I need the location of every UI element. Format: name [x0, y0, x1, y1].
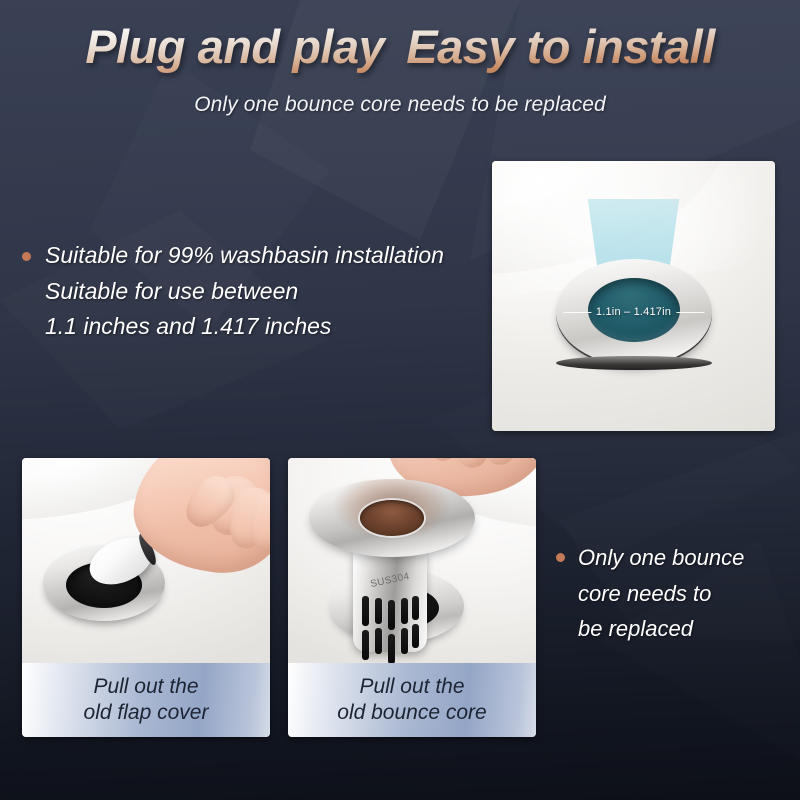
drain-size-photo: 1.1in – 1.417in	[492, 161, 775, 431]
strainer-slot	[362, 630, 369, 660]
caption-line: Pull out the	[359, 675, 464, 700]
list-item: Only one bounce core needs to be replace…	[556, 540, 792, 647]
strainer-slot	[388, 600, 395, 630]
strainer-slot	[375, 598, 382, 624]
strainer-slot	[388, 634, 395, 663]
feature-line: Suitable for 99% washbasin installation	[45, 238, 492, 274]
bounce-core-photo: SUS304 Pull out the old bounce core	[288, 458, 536, 737]
strainer-slot	[412, 624, 419, 648]
photo-area: 1.1in – 1.417in	[492, 161, 775, 431]
core-flange	[309, 479, 475, 557]
core-opening	[360, 500, 424, 536]
caption-line: old flap cover	[84, 701, 209, 726]
caption-line: old bounce core	[337, 701, 486, 726]
title-part-1: Plug and play	[85, 20, 384, 73]
bullet-dot-icon	[22, 252, 31, 261]
strainer-slot	[401, 598, 408, 624]
photo-caption: Pull out the old flap cover	[22, 663, 270, 737]
feature-line: be replaced	[578, 611, 792, 647]
page-subtitle: Only one bounce core needs to be replace…	[0, 93, 800, 117]
list-item-text: Suitable for 99% washbasin installation …	[45, 238, 492, 345]
strainer-slot	[401, 628, 408, 654]
dimension-line-right	[676, 312, 704, 313]
bounce-core-basket: SUS304	[353, 548, 427, 652]
finger	[448, 458, 493, 471]
page-title: Plug and playEasy to install	[0, 19, 800, 74]
measurement-label: 1.1in – 1.417in	[596, 306, 671, 318]
photo-caption: Pull out the old bounce core	[288, 663, 536, 737]
strainer-slot	[412, 596, 419, 620]
dimension-line-left	[563, 312, 591, 313]
measurement-callout: 1.1in – 1.417in	[563, 306, 704, 318]
feature-line: core needs to	[578, 576, 792, 612]
feature-line: Suitable for use between	[45, 274, 492, 310]
caption-line: Pull out the	[93, 675, 198, 700]
feature-list-left: Suitable for 99% washbasin installation …	[22, 238, 492, 345]
feature-line: Only one bounce	[578, 540, 792, 576]
promo-banner: Plug and playEasy to install Only one bo…	[0, 0, 800, 800]
flap-cover-photo: Pull out the old flap cover	[22, 458, 270, 737]
bullet-dot-icon	[556, 553, 565, 562]
strainer-slot	[362, 596, 369, 626]
photo-area: SUS304	[288, 458, 536, 663]
title-part-2: Easy to install	[406, 20, 715, 73]
strainer-slot	[375, 628, 382, 654]
strainer-slots	[353, 548, 427, 652]
photo-area	[22, 458, 270, 663]
feature-line: 1.1 inches and 1.417 inches	[45, 309, 492, 345]
list-item: Suitable for 99% washbasin installation …	[22, 238, 492, 345]
feature-list-right: Only one bounce core needs to be replace…	[556, 540, 792, 647]
list-item-text: Only one bounce core needs to be replace…	[578, 540, 792, 647]
